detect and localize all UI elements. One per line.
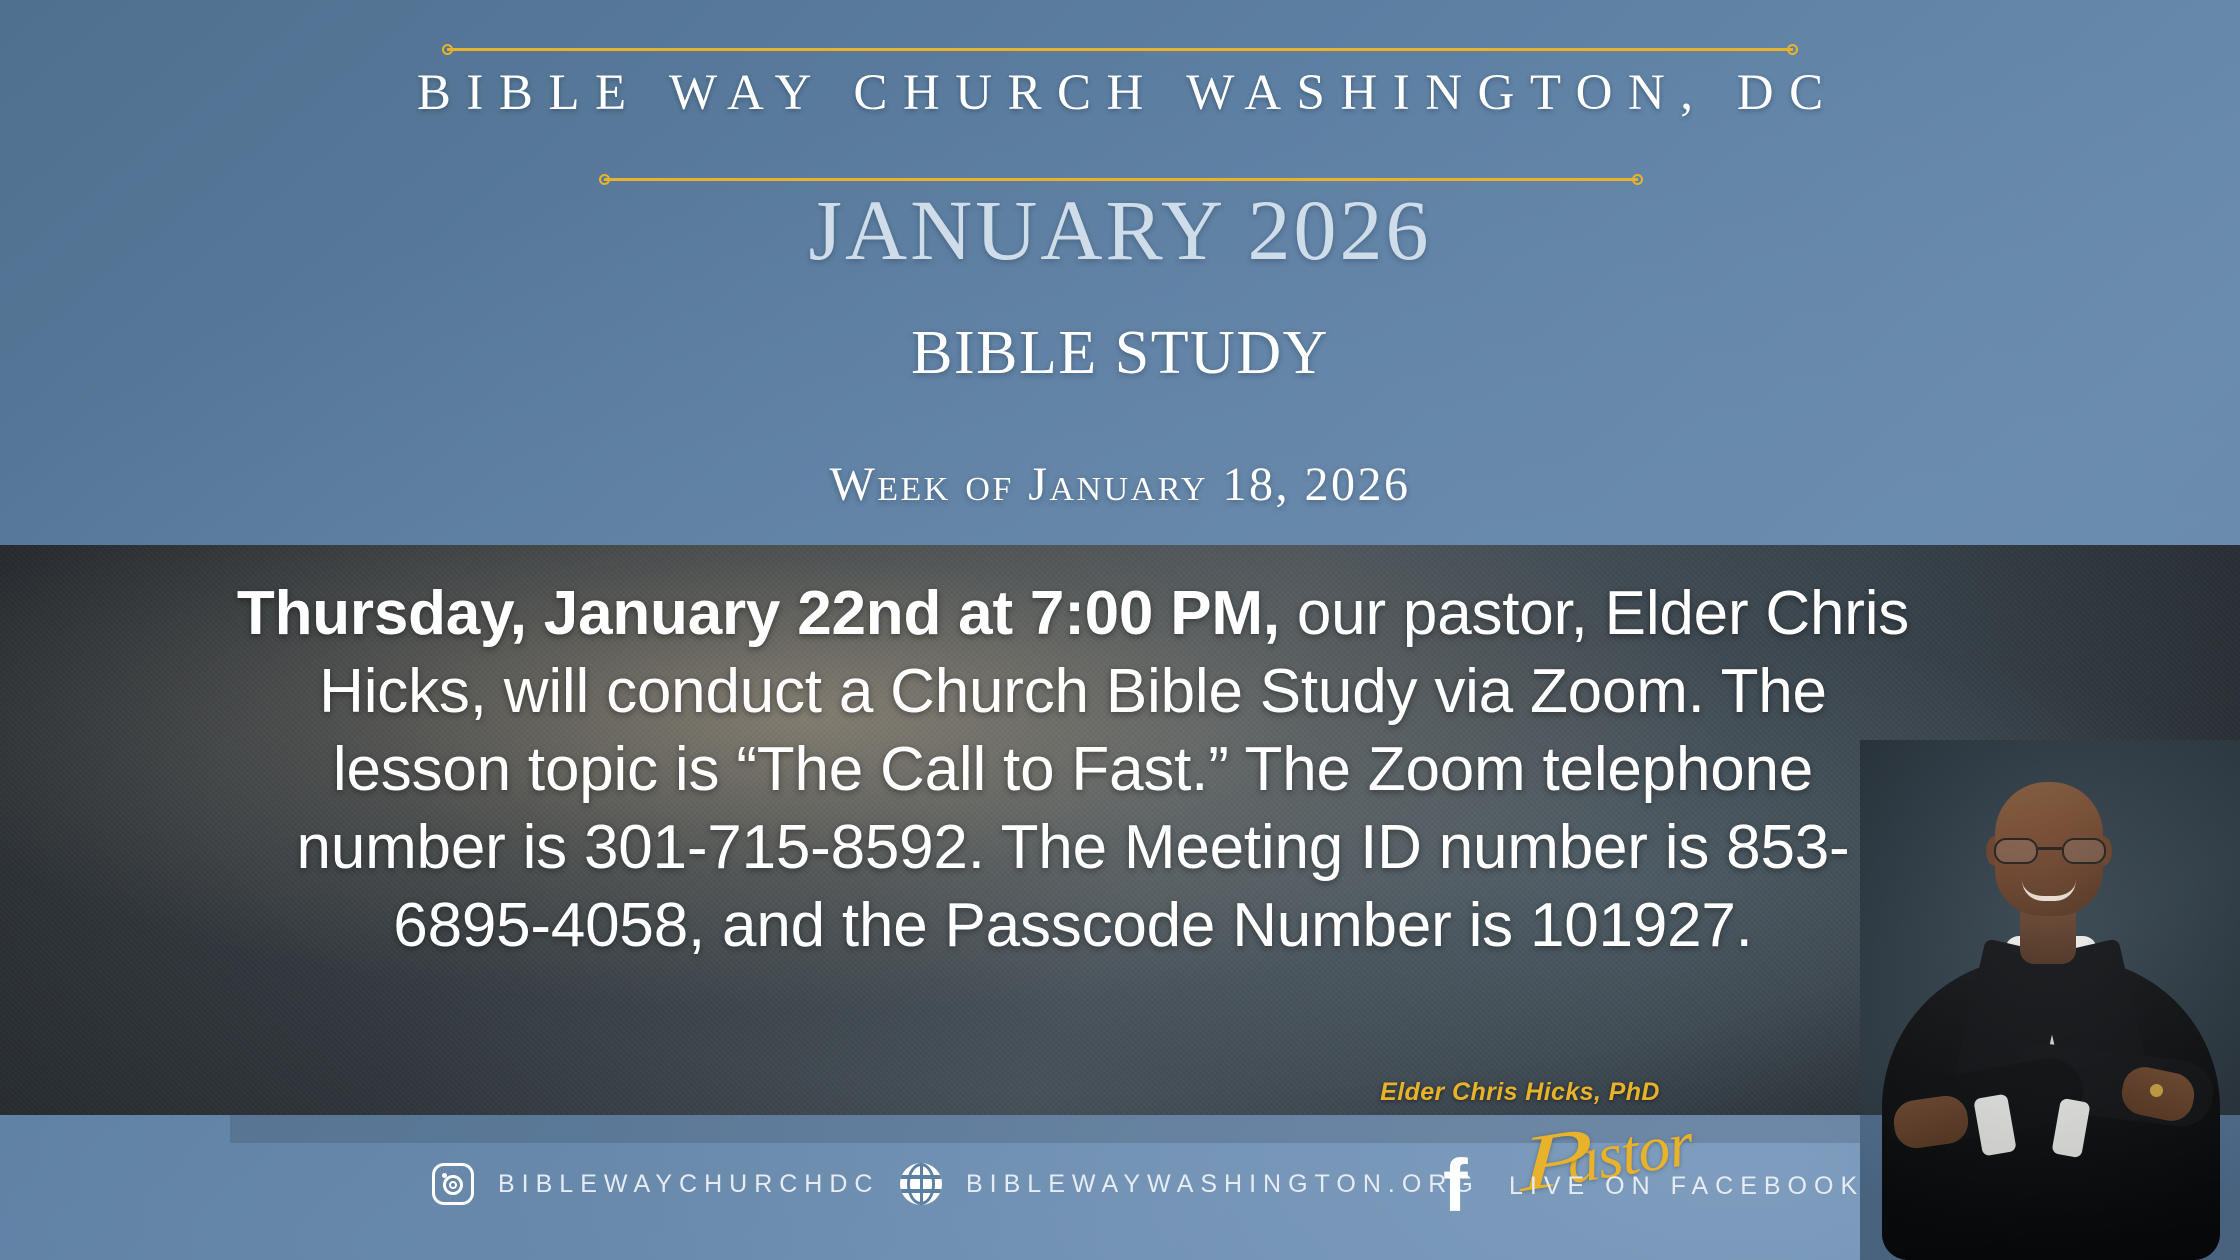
gold-divider-top	[447, 48, 1793, 51]
facebook-link[interactable]: f LIVE ON FACEBOOK	[1443, 1163, 1864, 1209]
month-year-heading: JANUARY 2026	[0, 180, 2240, 280]
portrait-tint	[1860, 740, 2240, 1260]
website-url: BIBLEWAYWASHINGTON.ORG	[966, 1170, 1480, 1199]
instagram-icon-lens	[443, 1175, 463, 1195]
announcement-text: Thursday, January 22nd at 7:00 PM, our p…	[228, 575, 1918, 965]
pastor-portrait	[1860, 740, 2240, 1260]
instagram-link[interactable]: BIBLEWAYCHURCHDC	[432, 1163, 879, 1205]
week-of-label: Week of January 18, 2026	[0, 457, 2240, 512]
globe-ellipse	[907, 1163, 935, 1205]
facebook-label: LIVE ON FACEBOOK	[1509, 1172, 1864, 1201]
divider-cap-right	[1787, 44, 1798, 55]
instagram-icon	[432, 1163, 474, 1205]
announcement-lead: Thursday, January 22nd at 7:00 PM,	[237, 579, 1280, 648]
series-title: BIBLE STUDY	[0, 318, 2240, 389]
facebook-icon-glyph: f	[1443, 1149, 1468, 1223]
instagram-handle: BIBLEWAYCHURCHDC	[498, 1170, 879, 1199]
church-name: BIBLE WAY CHURCH WASHINGTON, DC	[0, 64, 2240, 122]
globe-icon	[900, 1163, 942, 1205]
divider-cap-left	[442, 44, 453, 55]
flyer-canvas: BIBLE WAY CHURCH WASHINGTON, DC JANUARY …	[0, 0, 2240, 1260]
website-link[interactable]: BIBLEWAYWASHINGTON.ORG	[900, 1163, 1480, 1205]
facebook-icon: f	[1443, 1163, 1485, 1209]
